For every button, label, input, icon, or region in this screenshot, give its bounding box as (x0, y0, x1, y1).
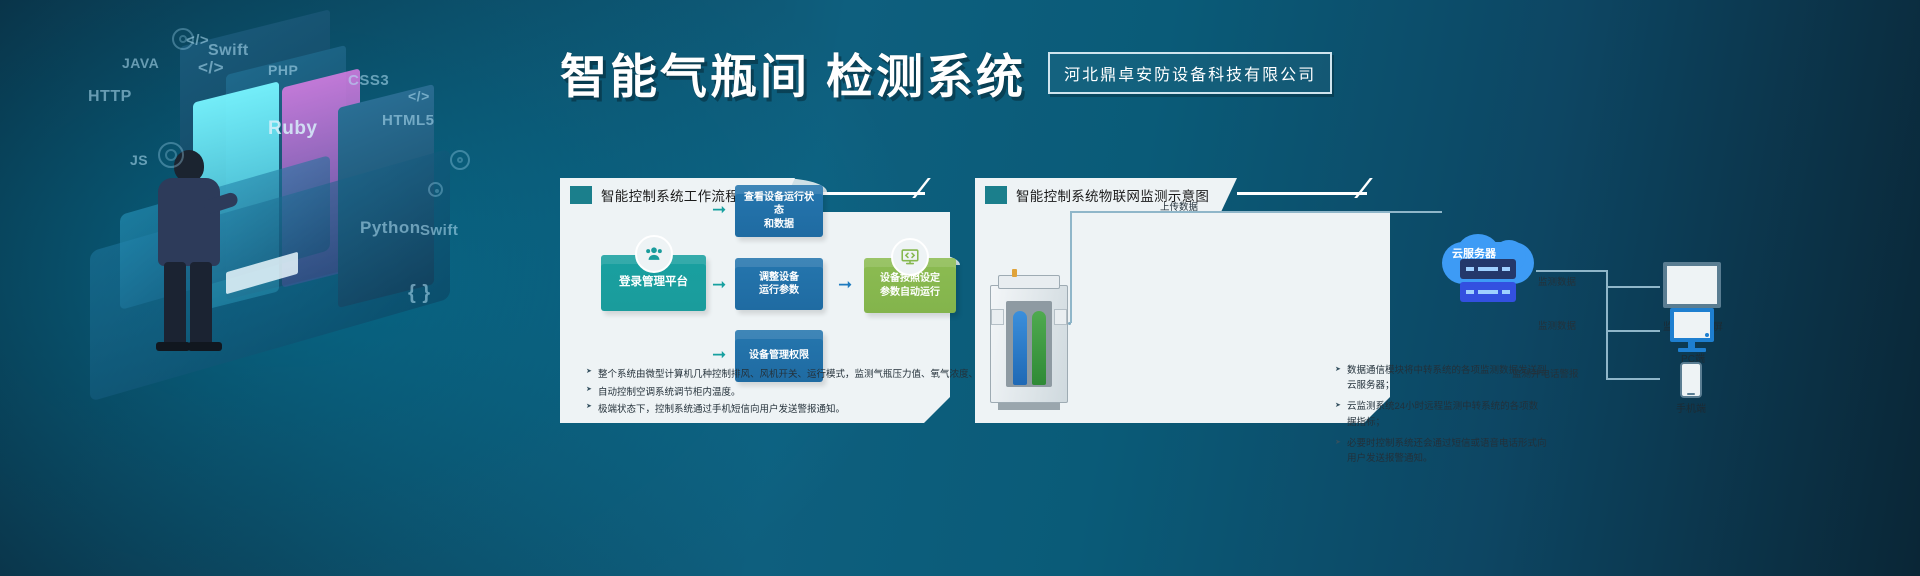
wire-branch (1606, 378, 1660, 380)
code-monitor-icon (891, 238, 929, 276)
users-icon (635, 235, 673, 273)
upload-data-label: 上传数据 (1160, 199, 1198, 213)
mobile-phone-icon (1680, 362, 1702, 398)
list-item: 数据通信模块将中转系统的各项监测数据发送到云服务器； (1335, 363, 1547, 393)
header-square-icon (570, 186, 592, 204)
keyword-label: Ruby (268, 118, 318, 140)
pc-monitor-icon (1670, 308, 1714, 342)
keyword-label: Python (360, 218, 421, 238)
monitor-large-icon (1663, 262, 1721, 308)
link-label: 监测数据 (1538, 274, 1576, 288)
keyword-label: Swift (420, 222, 458, 239)
person-silhouette (148, 150, 238, 350)
iot-bullet-list: 数据通信模块将中转系统的各项监测数据发送到云服务器； 云监测系统24小时远程监测… (1335, 363, 1547, 472)
flow-node-login-label: 登录管理平台 (613, 275, 694, 291)
gear-icon (158, 142, 184, 168)
keyword-label: JS (130, 152, 148, 168)
list-item: 必要时控制系统还会通过短信或语音电话形式向用户发送报警通知。 (1335, 436, 1547, 466)
flow-node-login[interactable]: 登录管理平台 (601, 255, 706, 311)
wire-vertical (1070, 211, 1072, 323)
gear-icon (172, 28, 194, 50)
flow-node-view-status-label: 查看设备运行状态 和数据 (735, 191, 823, 232)
header-rule-diagonal (1354, 178, 1373, 198)
link-label: 监测数据 (1538, 318, 1576, 332)
flow-arrow-icon: ➞ (838, 275, 852, 295)
flow-arrow-icon: ➞ (712, 345, 726, 365)
gas-cabinet-icon (990, 285, 1068, 403)
gear-icon (450, 150, 470, 170)
flow-node-auto-run[interactable]: 设备按照设定 参数自动运行 (864, 258, 956, 313)
keyword-label: HTML5 (382, 112, 435, 129)
keyword-label: CSS3 (348, 72, 389, 89)
code-tag-icon: </> (408, 88, 430, 104)
keyword-label: { } (408, 282, 431, 305)
company-badge: 河北鼎卓安防设备科技有限公司 (1048, 52, 1332, 94)
developer-illustration: JAVA HTTP JS Swift PHP CSS3 Ruby HTML5 S… (30, 0, 550, 430)
flow-node-view-status[interactable]: 查看设备运行状态 和数据 (735, 185, 823, 237)
header-square-icon (985, 186, 1007, 204)
gear-icon (428, 182, 443, 197)
list-item: 极端状态下，控制系统通过手机短信向用户发送警报通知。 (586, 401, 942, 419)
page-header: 智能气瓶间 检测系统 河北鼎卓安防设备科技有限公司 (560, 38, 1332, 107)
flow-node-auto-run-label: 设备按照设定 参数自动运行 (874, 272, 946, 299)
flow-node-permissions-label: 设备管理权限 (743, 349, 815, 363)
wire-horizontal (1070, 211, 1442, 213)
flow-node-adjust-params-label: 调整设备 运行参数 (753, 271, 805, 298)
list-item: 整个系统由微型计算机几种控制排风、风机开关、运行模式，监测气瓶压力值、氧气浓度、… (586, 366, 942, 384)
cloud-server-label: 云服务器 (1452, 245, 1496, 261)
wire-branch (1606, 286, 1660, 288)
keyword-label: JAVA (122, 55, 159, 71)
flow-node-adjust-params[interactable]: 调整设备 运行参数 (735, 258, 823, 310)
header-rule-diagonal (912, 178, 931, 198)
flow-arrow-icon: ➞ (712, 275, 726, 295)
flow-arrow-icon: ➞ (712, 200, 726, 220)
code-tag-icon: </> (198, 58, 224, 78)
device-label-mobile: 手机端 (1667, 400, 1715, 415)
keyword-label: HTTP (88, 88, 132, 106)
wire-branch (1606, 330, 1660, 332)
keyword-label: PHP (268, 62, 298, 78)
workflow-bullet-list: 整个系统由微型计算机几种控制排风、风机开关、运行模式，监测气瓶压力值、氧气浓度、… (586, 366, 942, 419)
page-title: 智能气瓶间 检测系统 (560, 38, 1026, 107)
header-rule (1237, 192, 1367, 195)
list-item: 自动控制空调系统调节柜内温度。 (586, 384, 942, 402)
wire-cloud-out (1536, 270, 1608, 272)
list-item: 云监测系统24小时远程监测中转系统的各项数据指标； (1335, 399, 1547, 429)
